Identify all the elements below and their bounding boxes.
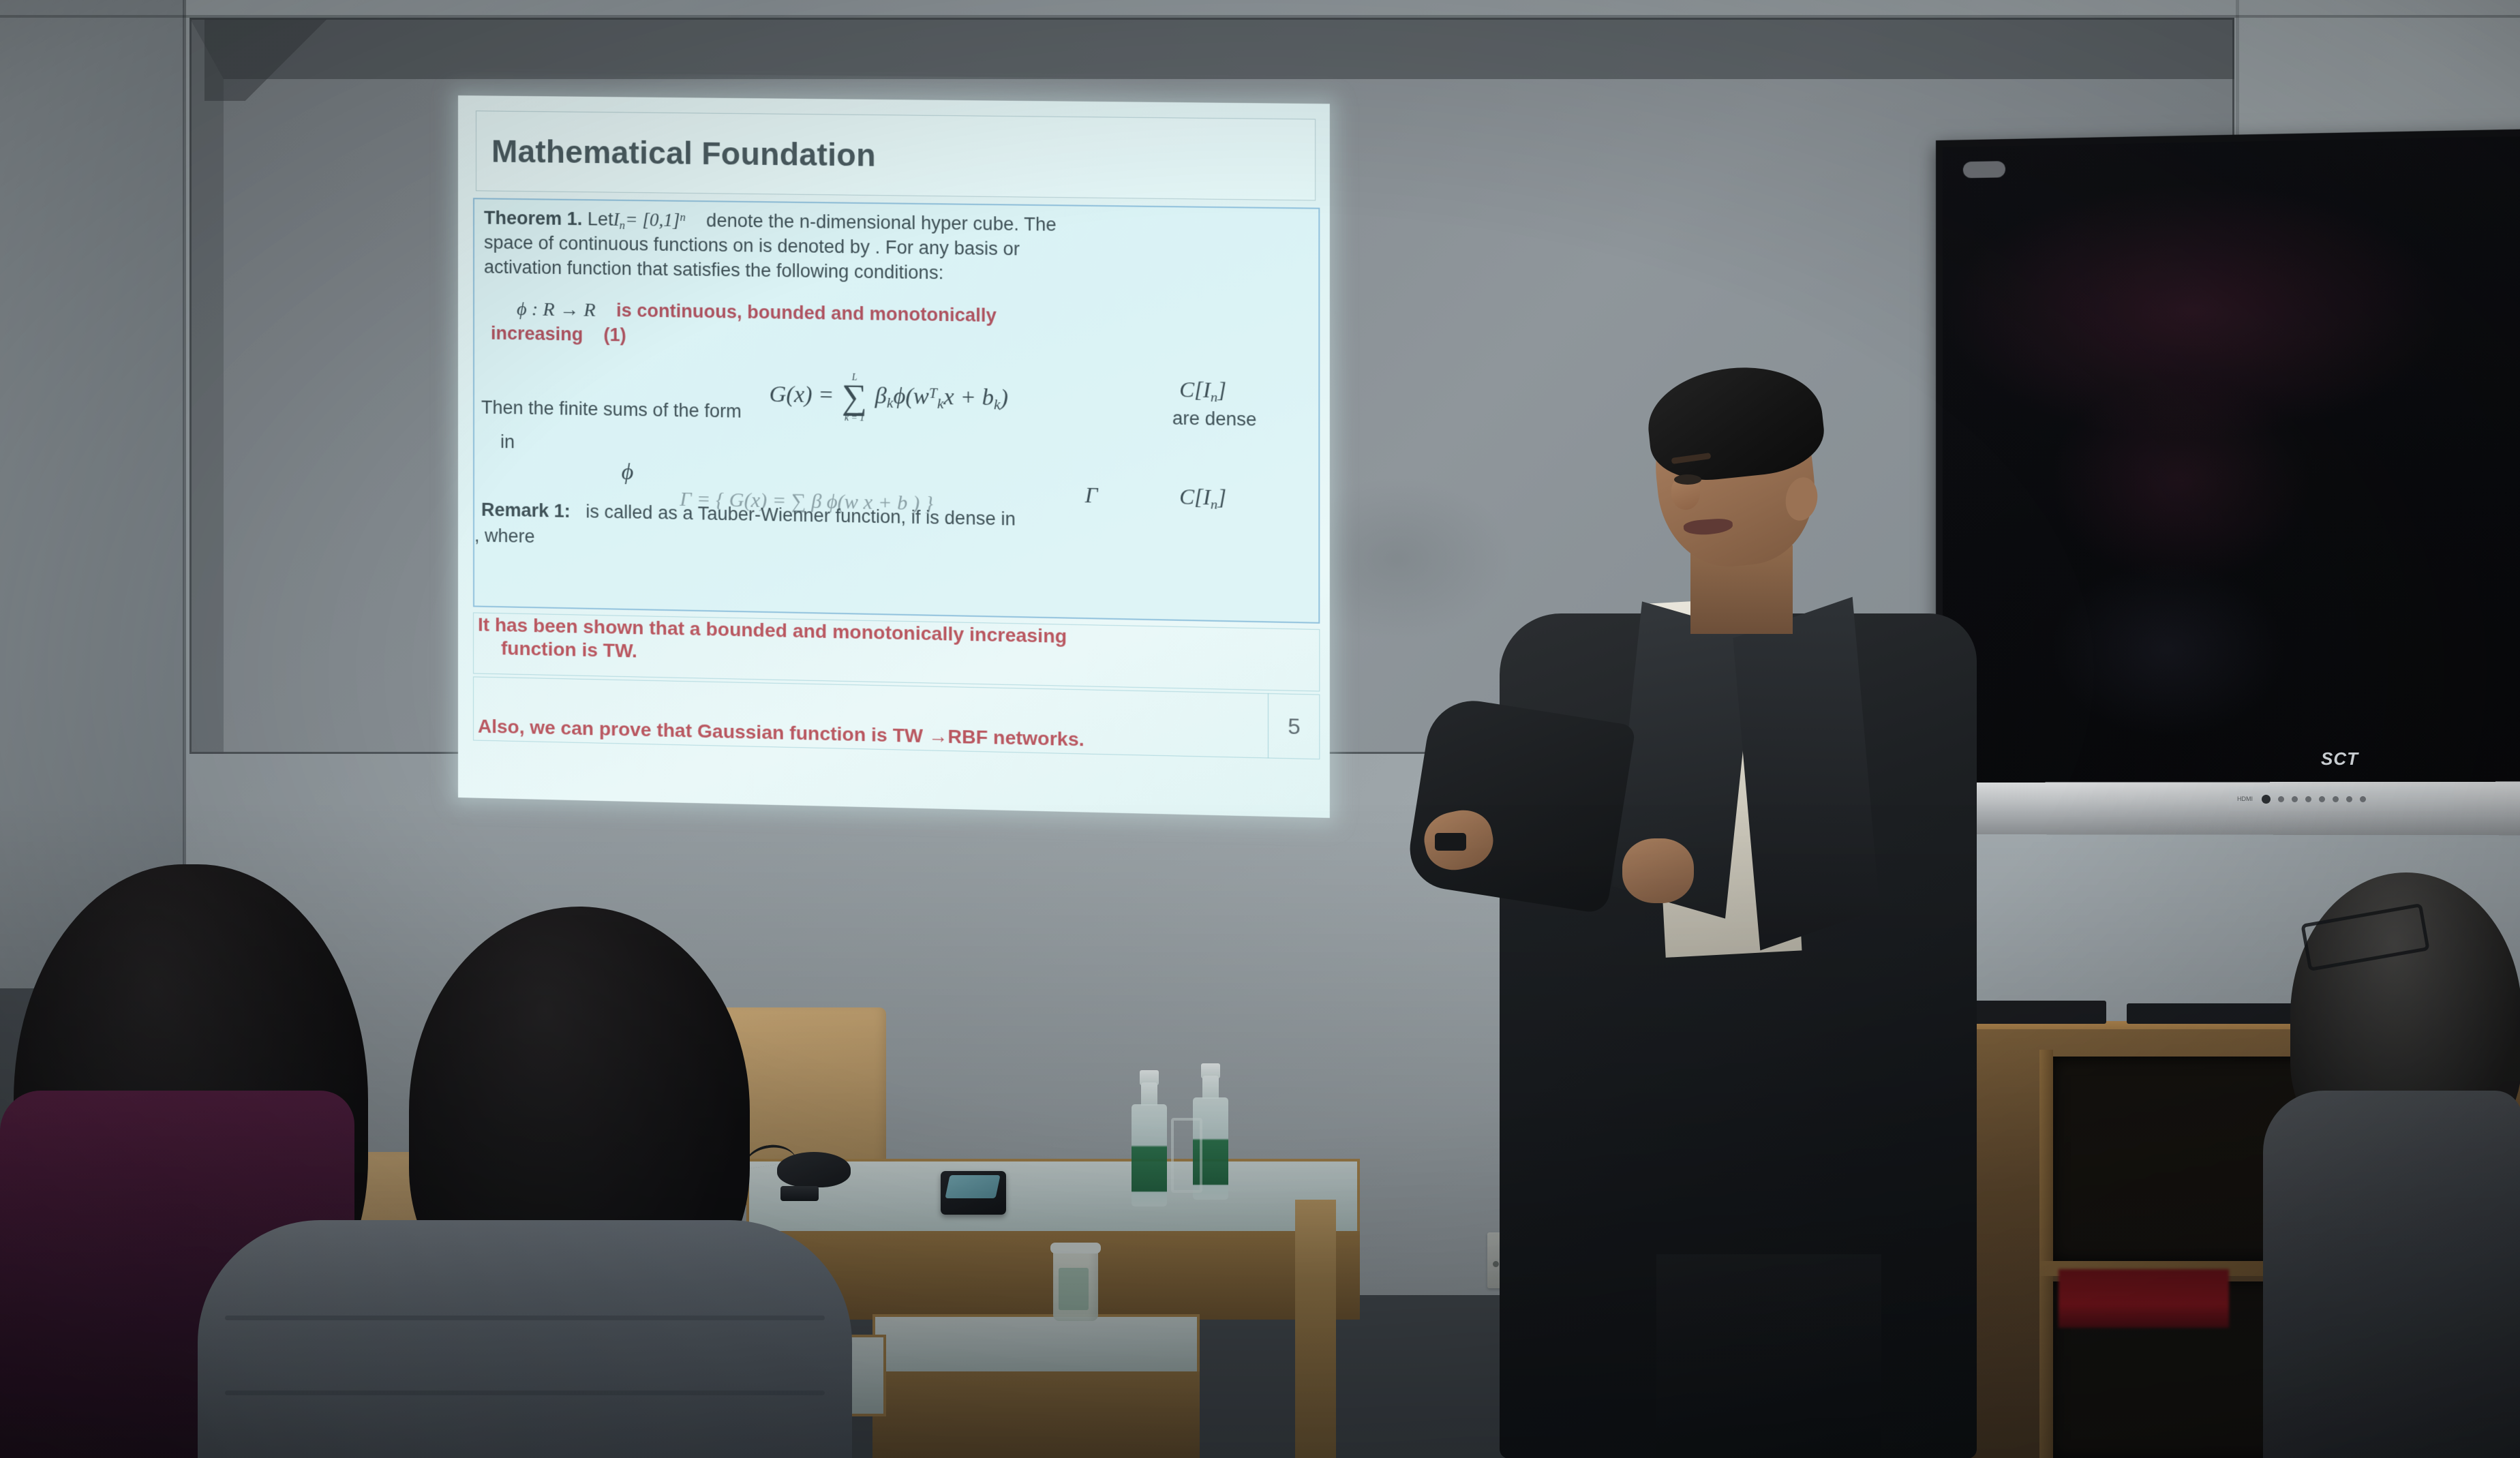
audience-center-vest bbox=[198, 1220, 852, 1458]
remark-line: Remark 1: is called as a Tauber-Wienner … bbox=[481, 500, 1016, 530]
tv-button-4[interactable] bbox=[2319, 796, 2325, 802]
presenter-held-clicker bbox=[1435, 833, 1466, 851]
computer-mouse[interactable] bbox=[777, 1152, 851, 1187]
desk-leg-right bbox=[1295, 1200, 1336, 1458]
slide-title: Mathematical Foundation bbox=[491, 133, 876, 174]
tv-button-1[interactable] bbox=[2278, 796, 2284, 802]
slide-number-box: 5 bbox=[1268, 693, 1320, 759]
summation-symbol: L ∑ k = 1 bbox=[842, 371, 867, 424]
bottle-neck bbox=[1202, 1076, 1219, 1099]
socket-screw-left bbox=[1493, 1261, 1499, 1267]
tv-corner-badge bbox=[1963, 161, 2005, 178]
cabinet-divider-vertical bbox=[2039, 1050, 2053, 1458]
bottle-body bbox=[1132, 1104, 1167, 1206]
presenter-eye bbox=[1674, 474, 1701, 485]
audience-center-vest-seam-1 bbox=[225, 1316, 825, 1320]
presenter-legs bbox=[1656, 1254, 1881, 1458]
audience-right-torso bbox=[2263, 1091, 2520, 1458]
presenter-arm-left bbox=[1404, 694, 1636, 914]
tv-button-7[interactable] bbox=[2360, 796, 2366, 802]
theorem-line-1-tail: denote the n-dimensional hyper cube. The bbox=[706, 210, 1056, 234]
tv-control-panel[interactable]: HDMI bbox=[2229, 787, 2454, 811]
audience-center-vest-seam-2 bbox=[225, 1391, 825, 1395]
wall-left-return bbox=[0, 0, 204, 988]
tv-button-2[interactable] bbox=[2292, 796, 2298, 802]
c-in-symbol-2: C[In] bbox=[1179, 484, 1226, 513]
cabinet-red-object bbox=[2059, 1269, 2229, 1328]
presentation-room-photo: Mathematical Foundation Theorem 1. LetIn… bbox=[0, 0, 2520, 1458]
theorem-label: Theorem 1. bbox=[484, 207, 582, 229]
tv-screen bbox=[1943, 136, 2520, 800]
cup-lid bbox=[1050, 1243, 1101, 1254]
c-in-symbol-1: C[In] bbox=[1179, 377, 1226, 406]
tv-button-6[interactable] bbox=[2346, 796, 2352, 802]
paper-cup[interactable] bbox=[1053, 1247, 1098, 1321]
tv-power-button[interactable] bbox=[2262, 795, 2271, 804]
desk-front-front bbox=[872, 1371, 1200, 1458]
remark-text: is called as a Tauber-Wienner function, … bbox=[586, 501, 1015, 529]
tv-input-label: HDMI bbox=[2237, 795, 2253, 802]
tv-button-5[interactable] bbox=[2333, 796, 2339, 802]
phi-symbol: ϕ bbox=[622, 459, 634, 485]
in-word: in bbox=[500, 431, 515, 453]
remark-label: Remark 1: bbox=[481, 500, 571, 521]
condition-phi-map: ϕ : R → R bbox=[517, 299, 596, 321]
finite-sums-text: Then the finite sums of the form bbox=[481, 397, 742, 423]
slide-number: 5 bbox=[1288, 714, 1300, 740]
tv-brand-logo: SCT bbox=[2321, 748, 2358, 770]
projected-slide: Mathematical Foundation Theorem 1. LetIn… bbox=[458, 95, 1330, 818]
remark-where: , where bbox=[474, 525, 535, 547]
theorem-symbol-I: In= [0,1]n bbox=[613, 209, 686, 230]
gamma-symbol: Γ bbox=[1085, 483, 1098, 508]
theorem-box: Theorem 1. LetIn= [0,1]n denote the n-di… bbox=[473, 198, 1320, 624]
wall-television[interactable] bbox=[1936, 129, 2520, 807]
condition-number: (1) bbox=[604, 324, 626, 346]
presentation-clicker[interactable] bbox=[780, 1186, 819, 1201]
slide-title-box: Mathematical Foundation bbox=[476, 110, 1316, 200]
theorem-let: Let bbox=[588, 209, 613, 230]
red-statement-3: Also, we can prove that Gaussian functio… bbox=[474, 716, 1084, 754]
red-statement-box-2: 01.15.2015 Randomized Algorithms for Tra… bbox=[473, 676, 1320, 759]
slide-surface: Mathematical Foundation Theorem 1. LetIn… bbox=[458, 95, 1330, 818]
phone-screen bbox=[945, 1175, 1000, 1198]
presenter-hand-right bbox=[1622, 838, 1694, 903]
equation-G-of-x: G(x) = L ∑ k = 1 βkϕ(wTkx + bk) bbox=[770, 371, 1008, 426]
smartphone[interactable] bbox=[941, 1171, 1006, 1215]
bottle-neck bbox=[1141, 1082, 1157, 1106]
condition-red-text: is continuous, bounded and monotonically bbox=[616, 300, 997, 326]
panel-miter-corner bbox=[204, 19, 368, 101]
drinking-glass[interactable] bbox=[1171, 1118, 1202, 1193]
tv-button-3[interactable] bbox=[2305, 796, 2311, 802]
cup-contents bbox=[1059, 1268, 1089, 1310]
water-bottle-left[interactable] bbox=[1132, 1082, 1167, 1219]
are-dense-text: are dense bbox=[1172, 408, 1257, 430]
condition-red-text-2: increasing bbox=[491, 323, 583, 345]
desk-surface-front bbox=[872, 1314, 1200, 1380]
wall-seam-right bbox=[2236, 0, 2239, 136]
